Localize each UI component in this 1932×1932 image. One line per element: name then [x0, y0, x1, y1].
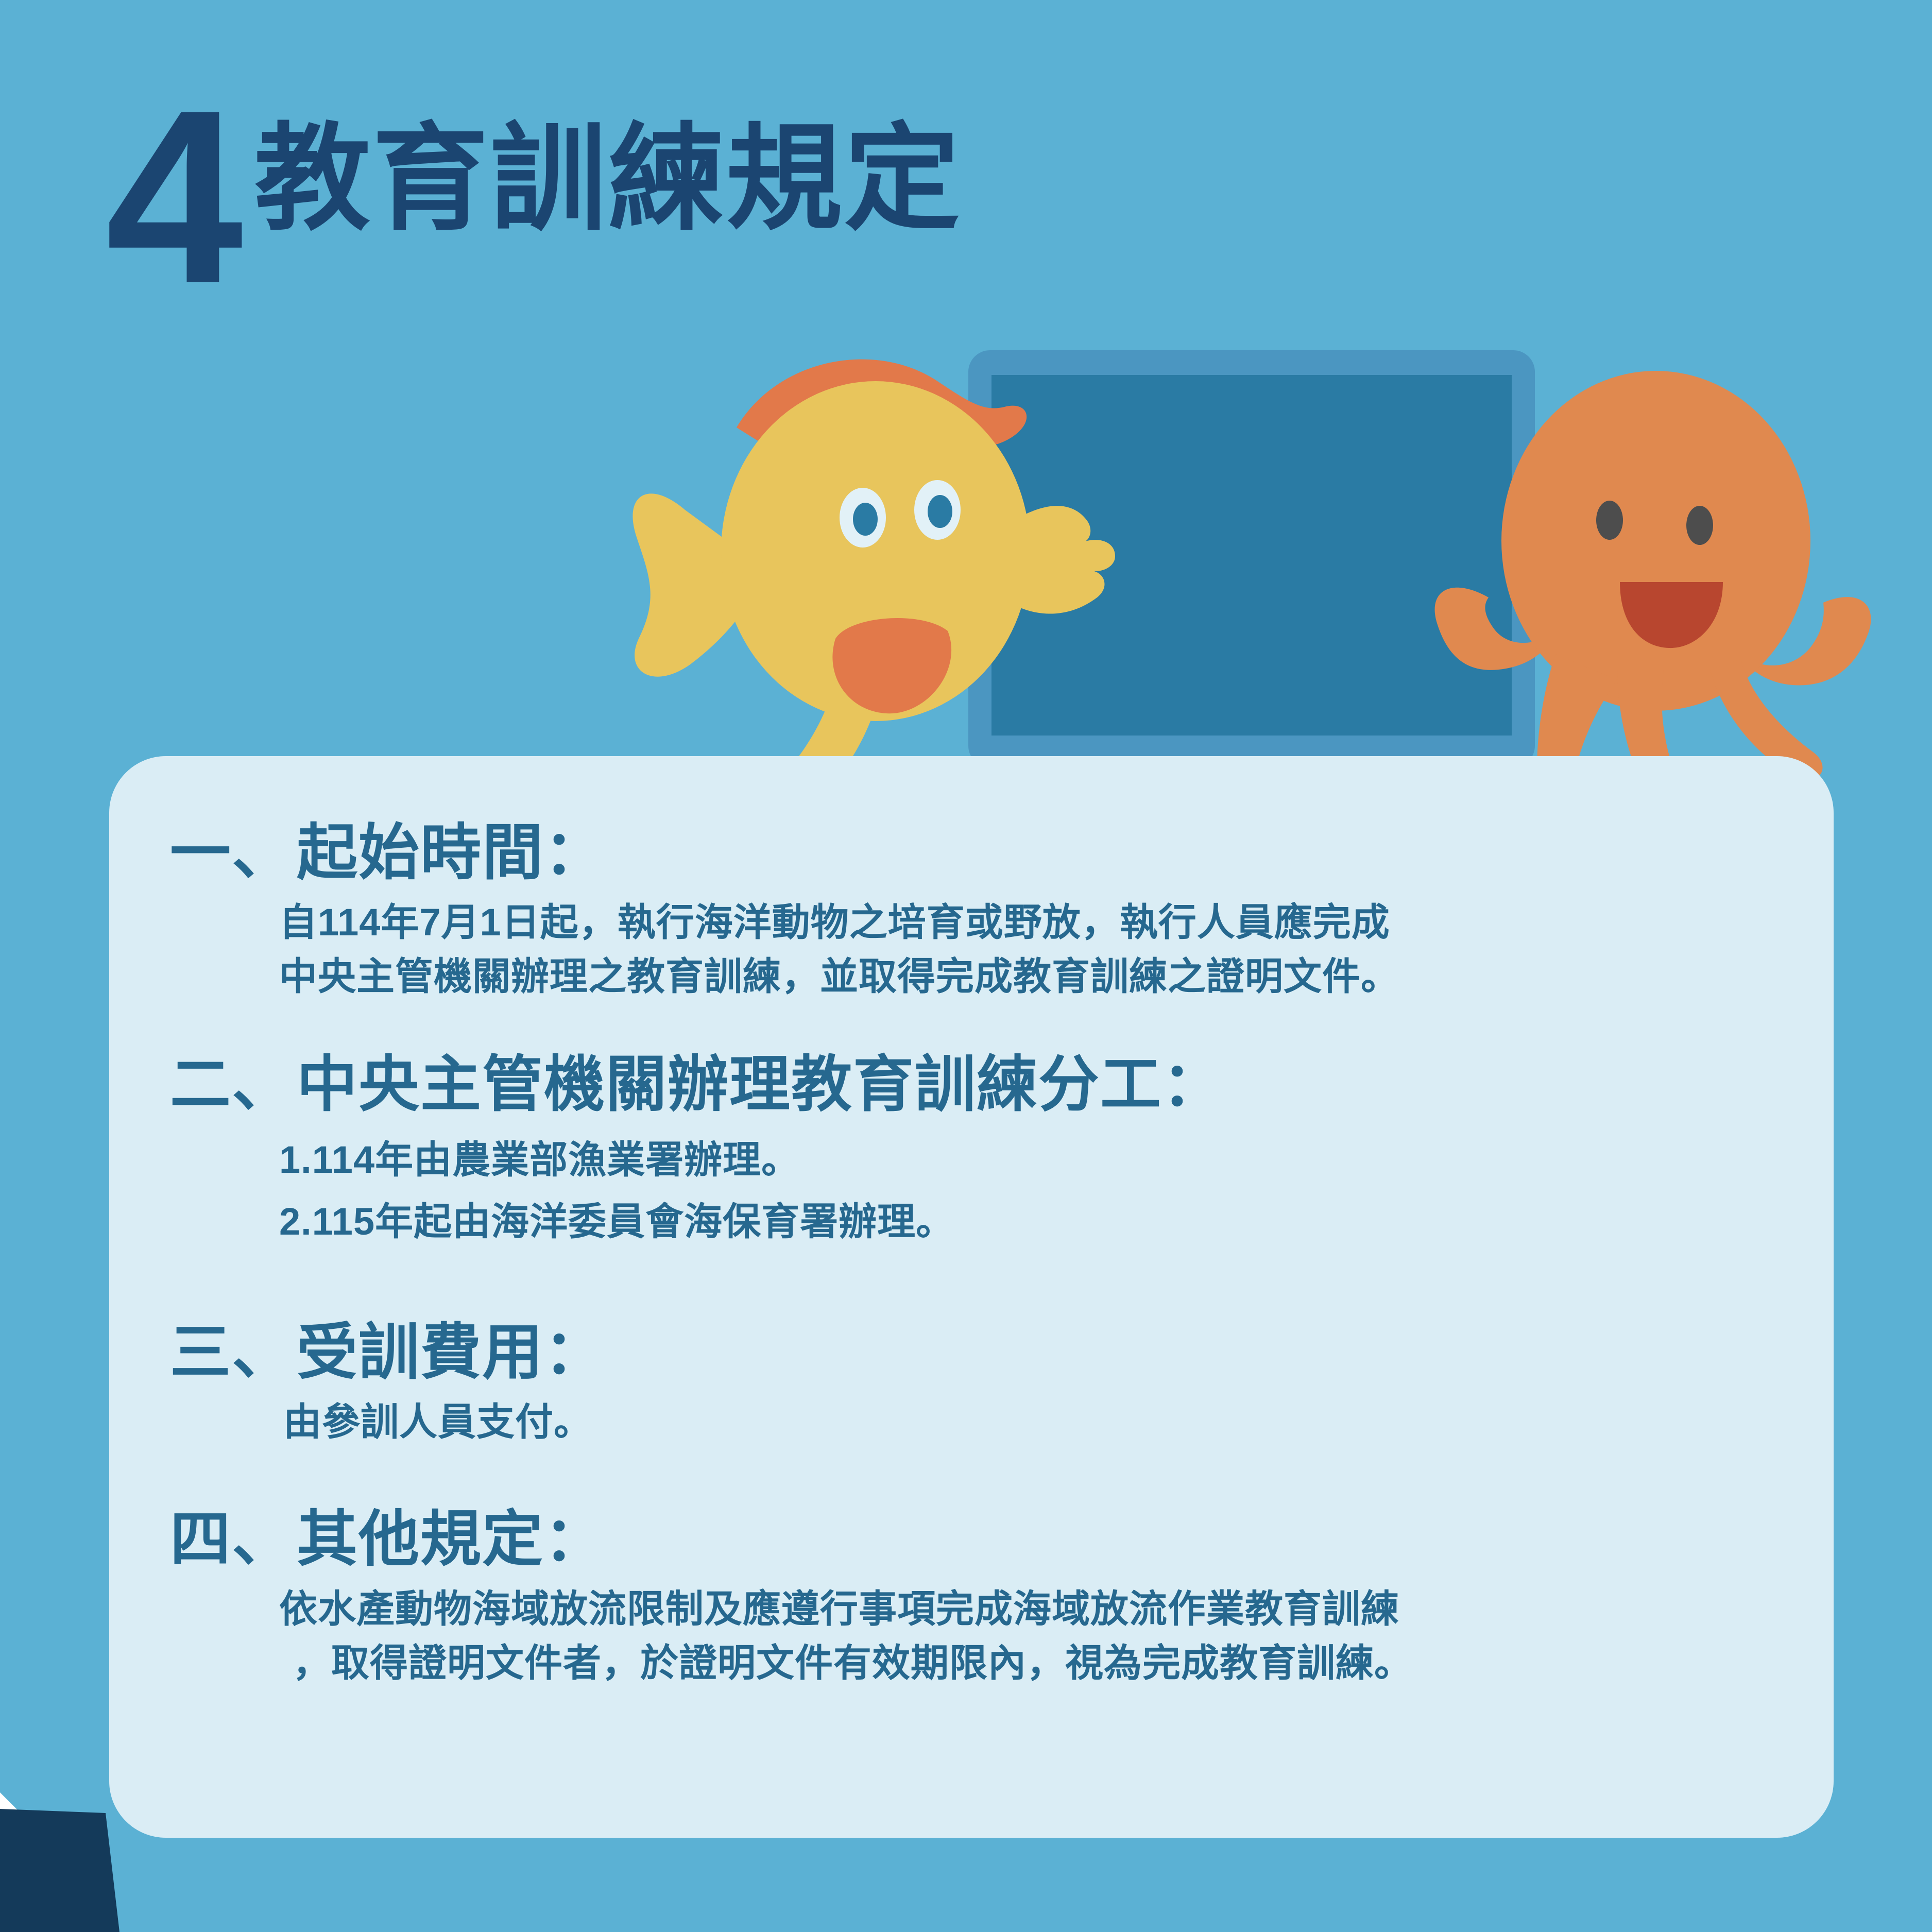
section-body: 自114年7月1日起，執行海洋動物之培育或野放，執行人員應完成 中央主管機關辦理… [279, 895, 1834, 1003]
section-title: 起始時間： [297, 819, 606, 887]
body-line: ，取得證明文件者，於證明文件有效期限內，視為完成教育訓練。 [279, 1636, 1834, 1690]
section-training-division: 二、 中央主管機關辦理教育訓練分工： 1.114年由農業部漁業署辦理。 2.11… [109, 1051, 1834, 1253]
body-line: 依水產動物海域放流限制及應遵行事項完成海域放流作業教育訓練 [279, 1582, 1834, 1636]
section-heading: 四、 其他規定： [109, 1506, 1834, 1574]
section-marker: 四、 [170, 1506, 294, 1574]
content-card: 一、 起始時間： 自114年7月1日起，執行海洋動物之培育或野放，執行人員應完成… [109, 756, 1834, 1838]
body-line: 中央主管機關辦理之教育訓練，並取得完成教育訓練之證明文件。 [279, 949, 1834, 1003]
section-heading: 一、 起始時間： [109, 819, 1834, 887]
octopus-eye-right [1686, 506, 1713, 545]
section-title: 中央主管機關辦理教育訓練分工： [297, 1051, 1224, 1119]
section-numbered-list: 1.114年由農業部漁業署辦理。 2.115年起由海洋委員會海保育署辦理。 [279, 1129, 1834, 1253]
section-heading: 二、 中央主管機關辦理教育訓練分工： [109, 1051, 1834, 1119]
section-start-time: 一、 起始時間： 自114年7月1日起，執行海洋動物之培育或野放，執行人員應完成… [109, 819, 1834, 1003]
corner-navy-wedge [0, 1809, 124, 1932]
octopus-eye-left [1596, 501, 1623, 540]
section-title: 受訓費用： [297, 1319, 606, 1387]
body-line: 由參訓人員支付。 [283, 1395, 1834, 1449]
page-title: 4 教育訓練規定 [106, 100, 962, 293]
body-line: 自114年7月1日起，執行海洋動物之培育或野放，執行人員應完成 [279, 895, 1834, 949]
section-body: 依水產動物海域放流限制及應遵行事項完成海域放流作業教育訓練 ，取得證明文件者，於… [279, 1582, 1834, 1690]
page-title-text: 教育訓練規定 [254, 121, 962, 237]
section-heading: 三、 受訓費用： [109, 1319, 1834, 1387]
section-title: 其他規定： [297, 1506, 606, 1574]
section-body: 由參訓人員支付。 [283, 1395, 1834, 1449]
section-training-fee: 三、 受訓費用： 由參訓人員支付。 [109, 1319, 1834, 1449]
list-item: 1.114年由農業部漁業署辦理。 [279, 1129, 1834, 1191]
section-other-rules: 四、 其他規定： 依水產動物海域放流限制及應遵行事項完成海域放流作業教育訓練 ，… [109, 1506, 1834, 1690]
section-marker: 一、 [170, 819, 294, 887]
list-item: 2.115年起由海洋委員會海保育署辦理。 [279, 1191, 1834, 1253]
section-marker: 二、 [170, 1051, 294, 1119]
section-marker: 三、 [170, 1319, 294, 1387]
section-number: 4 [106, 100, 239, 293]
